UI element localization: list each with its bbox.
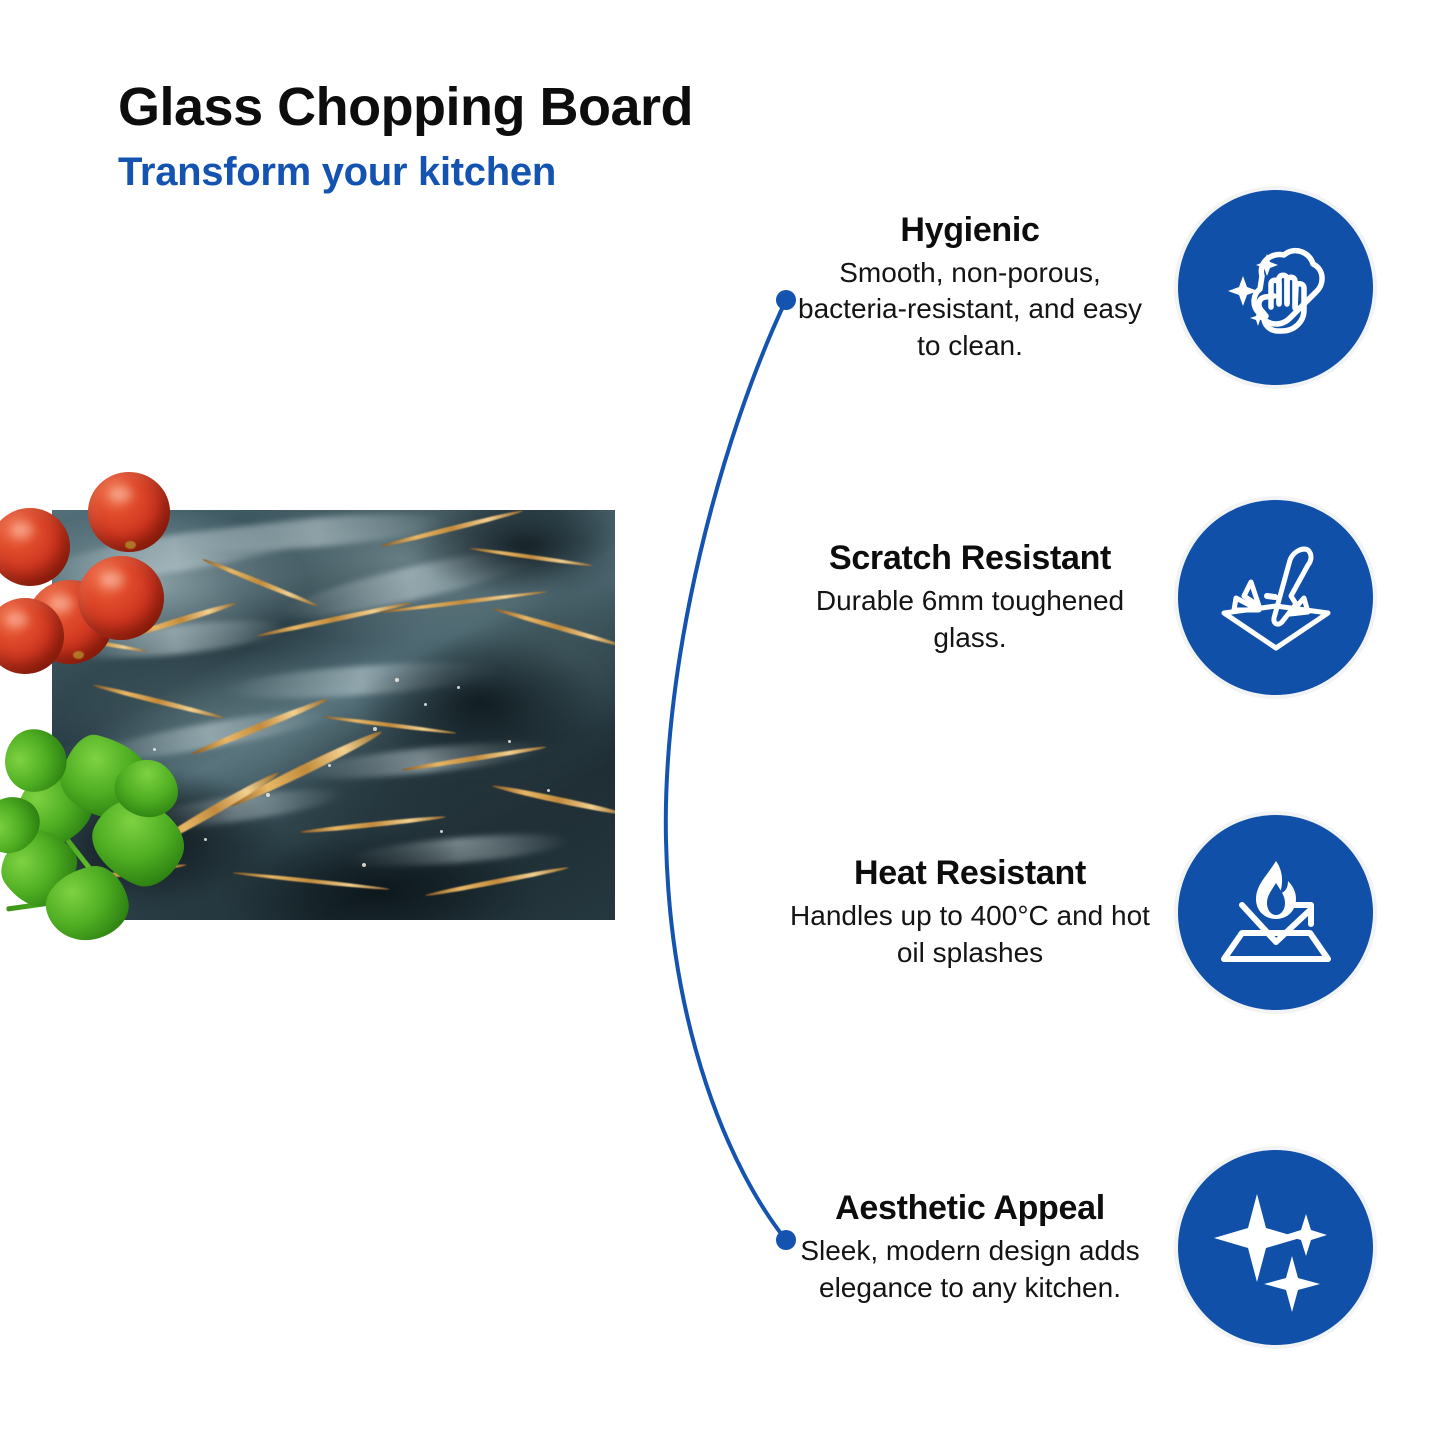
feature-text: Scratch Resistant Durable 6mm toughened … — [790, 539, 1150, 656]
feature-scratch-resistant: Scratch Resistant Durable 6mm toughened … — [790, 500, 1373, 695]
feature-text: Aesthetic Appeal Sleek, modern design ad… — [790, 1189, 1150, 1306]
feature-description: Handles up to 400°C and hot oil splashes — [790, 898, 1150, 971]
flame-deflect-surface-icon — [1178, 815, 1373, 1010]
cherry-tomato — [78, 556, 164, 640]
page-title: Glass Chopping Board — [118, 78, 878, 136]
feature-description: Durable 6mm toughened glass. — [790, 583, 1150, 656]
hand-wipe-sparkle-icon — [1178, 190, 1373, 385]
connector-curve — [600, 240, 860, 1300]
feature-hygienic: Hygienic Smooth, non-porous, bacteria-re… — [790, 190, 1373, 385]
product-photo — [0, 430, 640, 1010]
feature-title: Heat Resistant — [790, 854, 1150, 892]
page-subtitle: Transform your kitchen — [118, 150, 878, 194]
feature-text: Heat Resistant Handles up to 400°C and h… — [790, 854, 1150, 971]
knife-impact-surface-icon — [1178, 500, 1373, 695]
feature-description: Smooth, non-porous, bacteria-resistant, … — [790, 255, 1150, 364]
feature-title: Scratch Resistant — [790, 539, 1150, 577]
feature-aesthetic-appeal: Aesthetic Appeal Sleek, modern design ad… — [790, 1150, 1373, 1345]
feature-title: Hygienic — [790, 211, 1150, 249]
feature-heat-resistant: Heat Resistant Handles up to 400°C and h… — [790, 815, 1373, 1010]
feature-title: Aesthetic Appeal — [790, 1189, 1150, 1227]
cherry-tomato — [88, 472, 170, 552]
sparkles-icon — [1178, 1150, 1373, 1345]
feature-text: Hygienic Smooth, non-porous, bacteria-re… — [790, 211, 1150, 364]
feature-description: Sleek, modern design adds elegance to an… — [790, 1233, 1150, 1306]
header: Glass Chopping Board Transform your kitc… — [118, 78, 878, 194]
